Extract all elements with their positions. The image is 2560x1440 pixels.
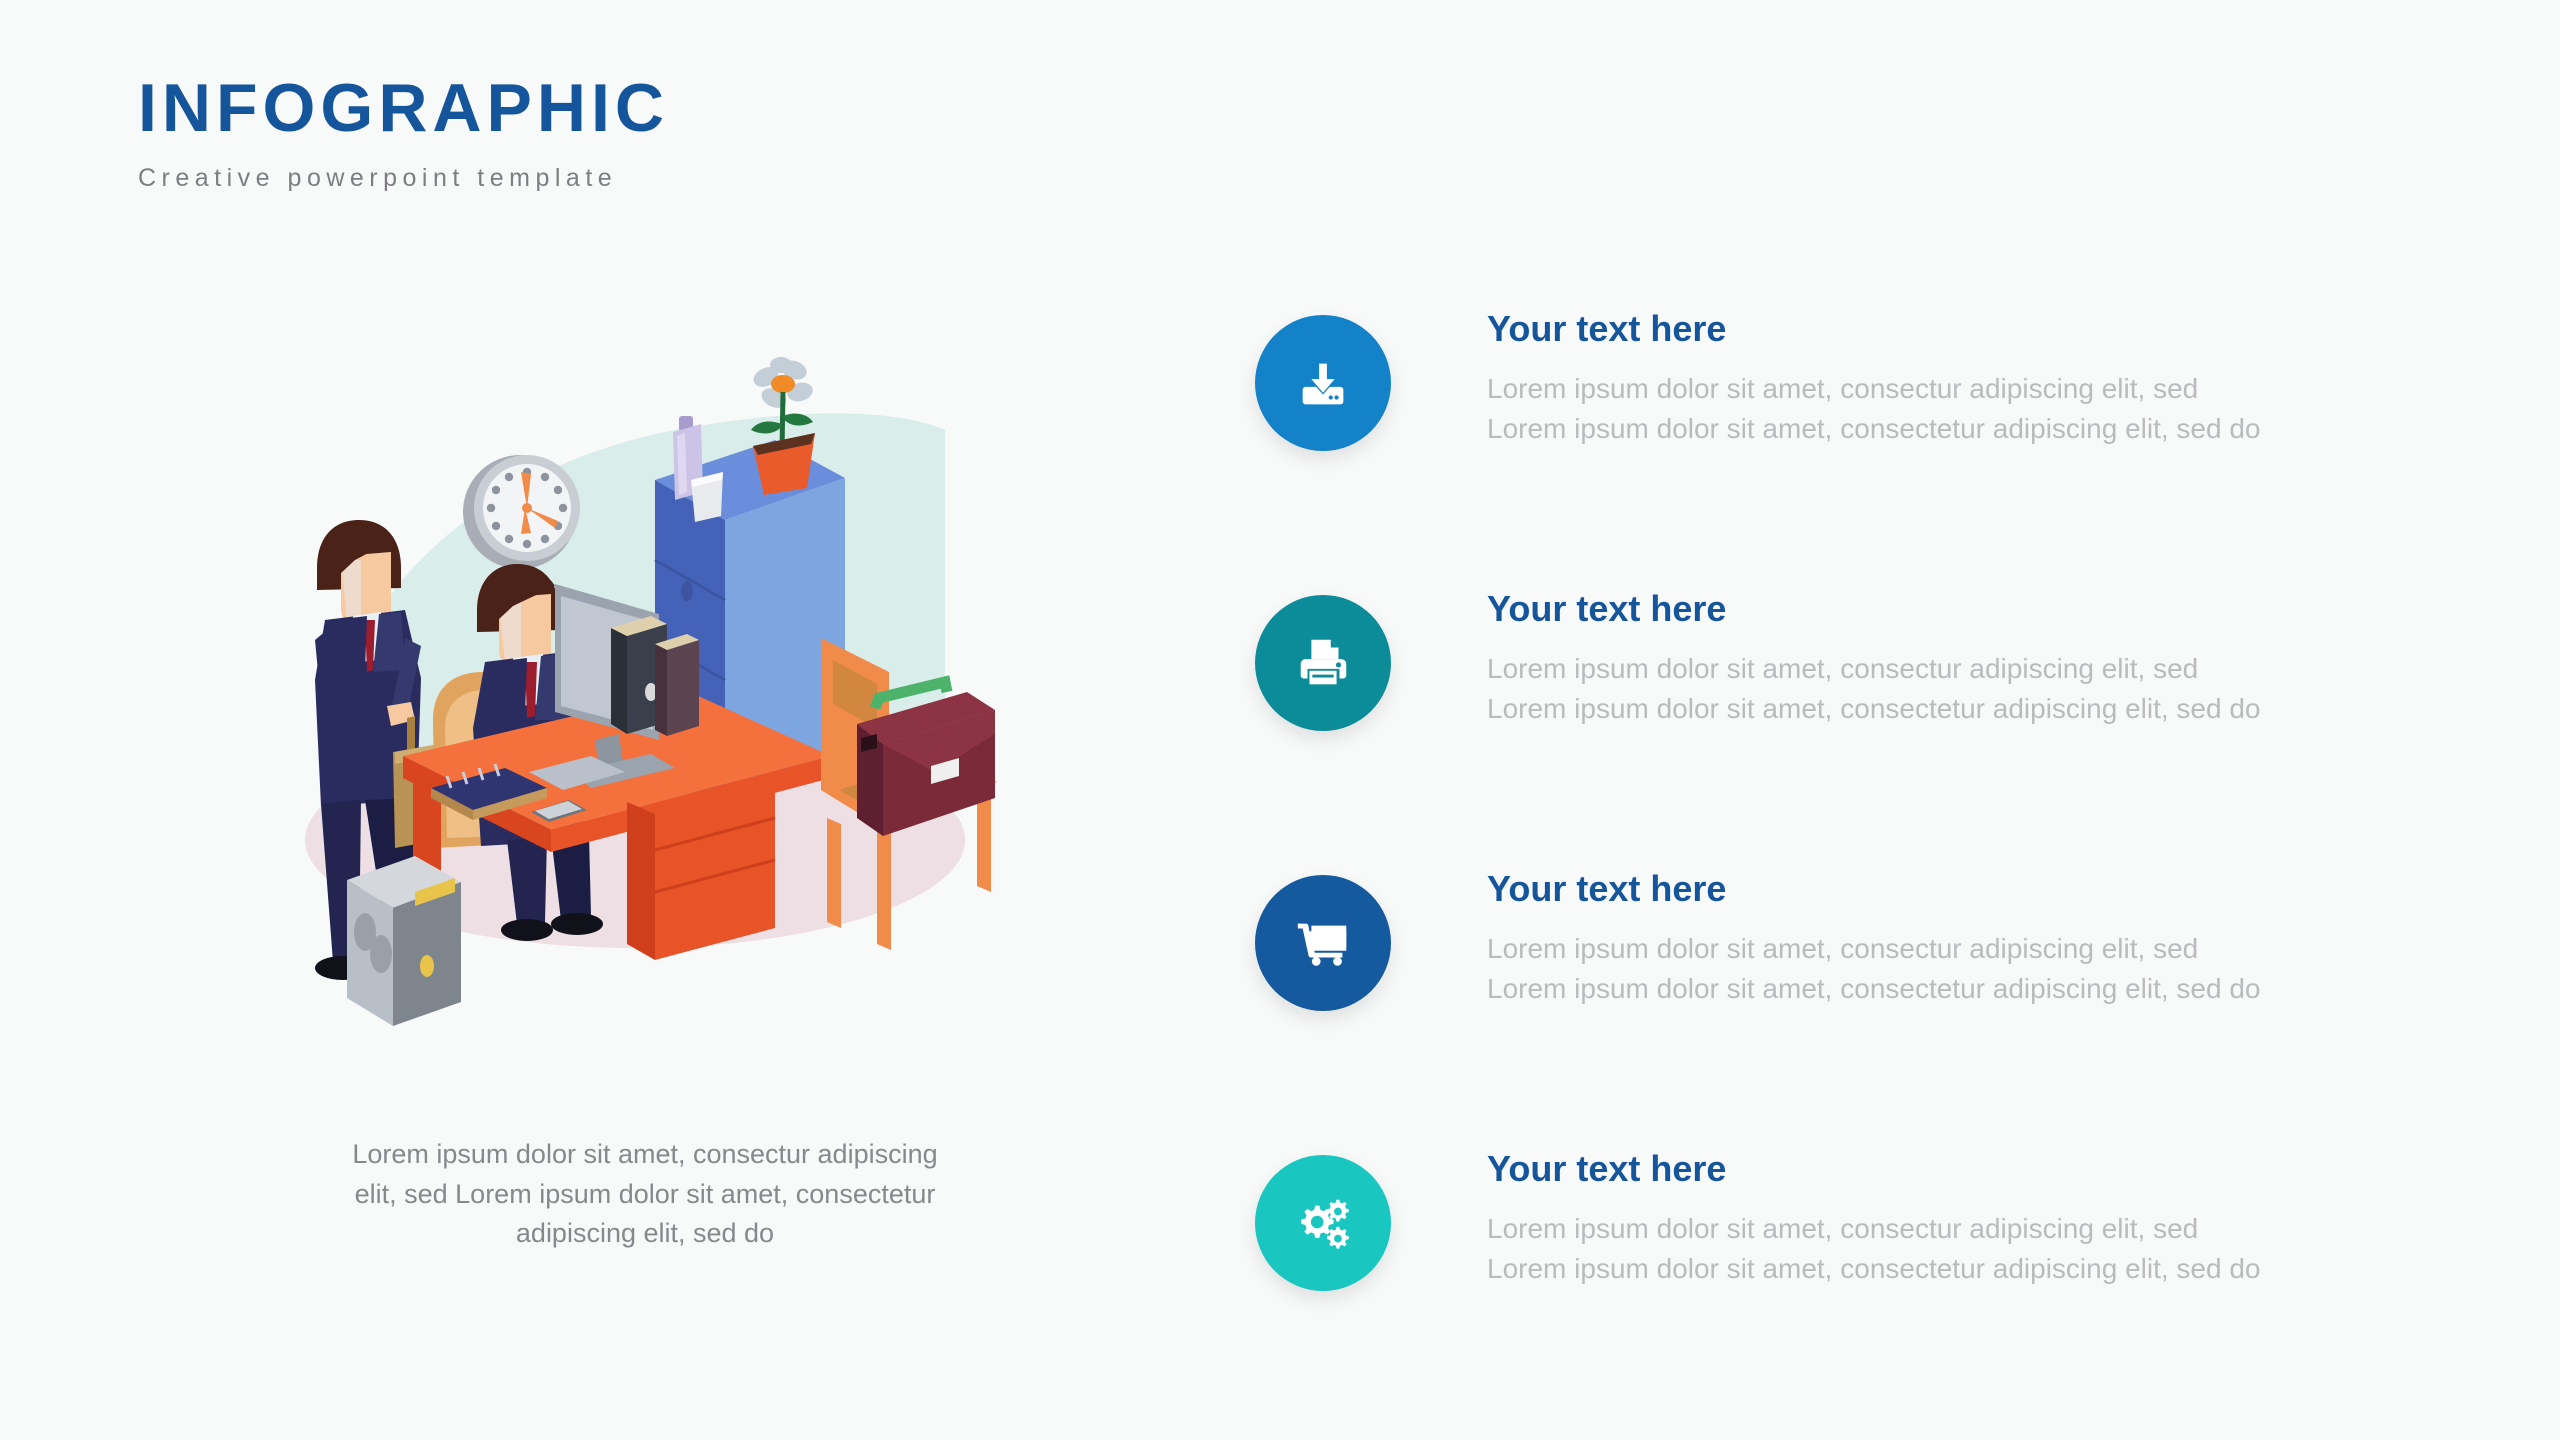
shopping-cart-icon (1292, 912, 1354, 974)
feature-text-block: Your text here Lorem ipsum dolor sit ame… (1487, 1149, 2477, 1290)
office-illustration (255, 320, 1085, 1050)
feature-body: Lorem ipsum dolor sit amet, consectur ad… (1487, 929, 2477, 1010)
feature-heading: Your text here (1487, 1149, 2477, 1189)
briefcase-on-chair (857, 682, 995, 836)
caption-line-3: adipiscing elit, sed do (245, 1214, 1045, 1254)
gears-settings-icon (1292, 1192, 1354, 1254)
feature-list: Your text here Lorem ipsum dolor sit ame… (1255, 315, 2475, 1155)
feature-body-line-1: Lorem ipsum dolor sit amet, consectur ad… (1487, 1209, 2477, 1250)
feature-text-block: Your text here Lorem ipsum dolor sit ame… (1487, 309, 2477, 450)
shopping-cart-icon-circle[interactable] (1255, 875, 1391, 1011)
illustration-caption: Lorem ipsum dolor sit amet, consectur ad… (245, 1135, 1045, 1254)
feature-text-block: Your text here Lorem ipsum dolor sit ame… (1487, 589, 2477, 730)
page-subtitle: Creative powerpoint template (138, 164, 669, 193)
printer-icon (1292, 632, 1354, 694)
feature-text-block: Your text here Lorem ipsum dolor sit ame… (1487, 869, 2477, 1010)
caption-line-2: elit, sed Lorem ipsum dolor sit amet, co… (245, 1175, 1045, 1215)
pc-tower (347, 856, 461, 1026)
feature-body-line-1: Lorem ipsum dolor sit amet, consectur ad… (1487, 929, 2477, 970)
feature-heading: Your text here (1487, 869, 2477, 909)
printer-icon-circle[interactable] (1255, 595, 1391, 731)
feature-body-line-1: Lorem ipsum dolor sit amet, consectur ad… (1487, 369, 2477, 410)
download-icon-circle[interactable] (1255, 315, 1391, 451)
header: INFOGRAPHIC Creative powerpoint template (138, 74, 669, 193)
feature-item-download[interactable]: Your text here Lorem ipsum dolor sit ame… (1255, 315, 2475, 595)
download-icon (1292, 352, 1354, 414)
drinking-glass (691, 472, 723, 522)
feature-body-line-2: Lorem ipsum dolor sit amet, consectetur … (1487, 689, 2477, 730)
feature-body-line-2: Lorem ipsum dolor sit amet, consectetur … (1487, 969, 2477, 1010)
caption-line-1: Lorem ipsum dolor sit amet, consectur ad… (245, 1135, 1045, 1175)
feature-item-cart[interactable]: Your text here Lorem ipsum dolor sit ame… (1255, 875, 2475, 1155)
feature-body-line-1: Lorem ipsum dolor sit amet, consectur ad… (1487, 649, 2477, 690)
feature-body: Lorem ipsum dolor sit amet, consectur ad… (1487, 649, 2477, 730)
feature-body: Lorem ipsum dolor sit amet, consectur ad… (1487, 369, 2477, 450)
feature-body-line-2: Lorem ipsum dolor sit amet, consectetur … (1487, 409, 2477, 450)
page-title: INFOGRAPHIC (138, 74, 669, 142)
feature-body: Lorem ipsum dolor sit amet, consectur ad… (1487, 1209, 2477, 1290)
feature-body-line-2: Lorem ipsum dolor sit amet, consectetur … (1487, 1249, 2477, 1290)
feature-item-printer[interactable]: Your text here Lorem ipsum dolor sit ame… (1255, 595, 2475, 875)
infographic-slide: INFOGRAPHIC Creative powerpoint template (0, 0, 2560, 1440)
feature-heading: Your text here (1487, 309, 2477, 349)
feature-heading: Your text here (1487, 589, 2477, 629)
gears-settings-icon-circle[interactable] (1255, 1155, 1391, 1291)
